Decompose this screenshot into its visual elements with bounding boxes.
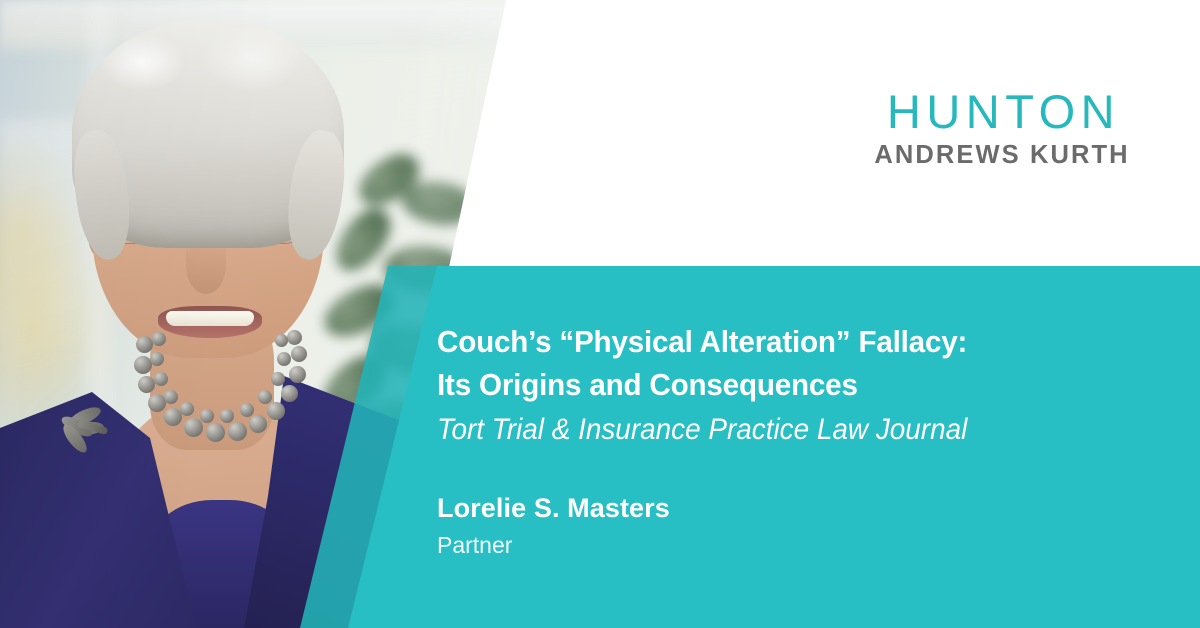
teeth bbox=[166, 311, 254, 326]
logo-wordmark-andrews-kurth: ANDREWS KURTH bbox=[856, 143, 1146, 169]
article-info: Couch’s “Physical Alteration” Fallacy: I… bbox=[437, 320, 1167, 560]
logo-wordmark-hunton: HUNTON bbox=[856, 88, 1146, 136]
pearl-necklace bbox=[130, 330, 308, 442]
article-title-line1: Couch’s “Physical Alteration” Fallacy: bbox=[437, 320, 1134, 363]
author-role: Partner bbox=[437, 531, 1167, 560]
article-title-line2: Its Origins and Consequences bbox=[437, 363, 1134, 406]
hunton-andrews-kurth-logo: HUNTON ANDREWS KURTH bbox=[856, 88, 1146, 168]
publication-name: Tort Trial & Insurance Practice Law Jour… bbox=[437, 409, 1116, 451]
promo-card: HUNTON ANDREWS KURTH Couch’s “Physical A… bbox=[0, 0, 1200, 628]
author-name: Lorelie S. Masters bbox=[437, 491, 1167, 525]
dragonfly-brooch bbox=[52, 408, 116, 452]
